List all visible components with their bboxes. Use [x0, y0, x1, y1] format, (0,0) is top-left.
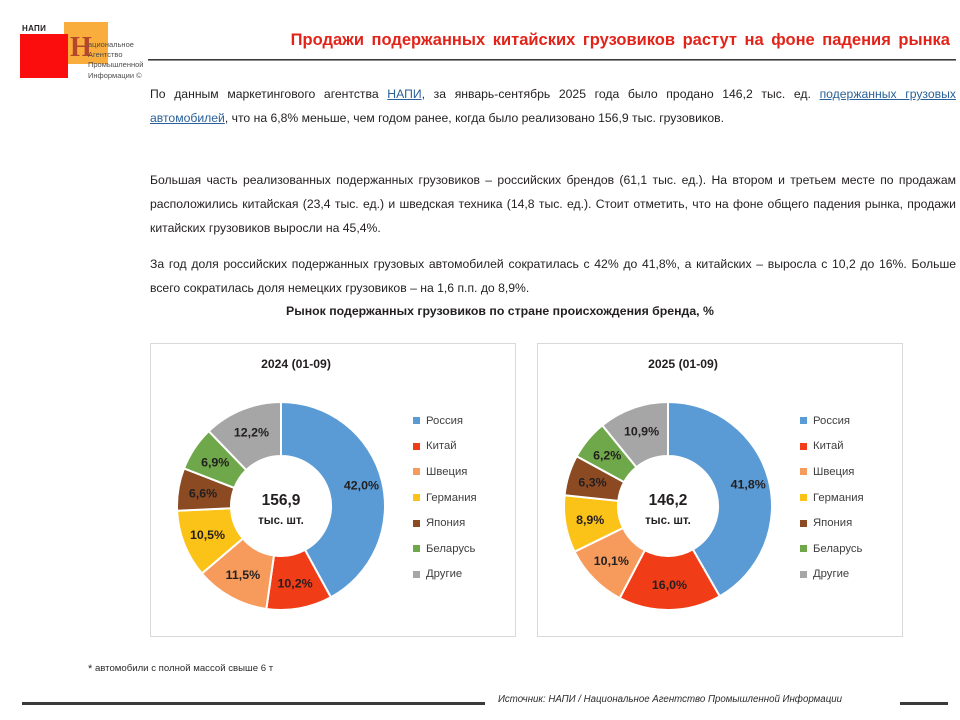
legend-label: Другие: [813, 568, 849, 580]
legend-label: Россия: [426, 415, 463, 427]
legend-swatch-icon: [800, 468, 807, 475]
chart-title-2025: 2025 (01-09): [538, 357, 902, 371]
legend-swatch-icon: [413, 417, 420, 424]
legend-swatch-icon: [800, 417, 807, 424]
legend-swatch-icon: [413, 468, 420, 475]
legend-label: Германия: [426, 492, 477, 504]
donut-chart-2024: 42,0%10,2%11,5%10,5%6,6%6,9%12,2%156,9ты…: [159, 382, 411, 630]
footer-rule-left: [22, 702, 485, 705]
legend-swatch-icon: [800, 520, 807, 527]
napi-logo: НАПИ Н ациональное Агентство Промышленно…: [14, 12, 154, 84]
legend-item[interactable]: Швеция: [800, 459, 892, 485]
chart-title-2024: 2024 (01-09): [151, 357, 515, 371]
legend-swatch-icon: [800, 494, 807, 501]
legend-label: Беларусь: [426, 543, 475, 555]
legend-item[interactable]: Другие: [413, 562, 505, 588]
slice-label: 6,3%: [578, 476, 606, 490]
legend-item[interactable]: Германия: [800, 485, 892, 511]
legend-swatch-icon: [413, 443, 420, 450]
legend-label: Германия: [813, 492, 864, 504]
legend-item[interactable]: Япония: [413, 510, 505, 536]
donut-center-value: 146,2: [649, 492, 688, 509]
logo-red-square: [20, 34, 68, 78]
donut-chart-2025: 41,8%16,0%10,1%8,9%6,3%6,2%10,9%146,2тыс…: [546, 382, 798, 630]
slice-label: 41,8%: [731, 478, 766, 492]
legend-item[interactable]: Россия: [800, 408, 892, 434]
chart-panel-2024: 2024 (01-09) 42,0%10,2%11,5%10,5%6,6%6,9…: [150, 343, 516, 637]
legend-swatch-icon: [413, 571, 420, 578]
donut-center-value: 156,9: [262, 492, 301, 509]
slice-label: 10,5%: [190, 528, 225, 542]
slice-label: 42,0%: [344, 478, 379, 492]
legend-label: Беларусь: [813, 543, 862, 555]
slice-label: 10,2%: [278, 577, 313, 591]
logo-line-4: Информации ©: [88, 71, 158, 81]
page-title: Продажи подержанных китайских грузовиков…: [150, 31, 950, 50]
footnote: * автомобили с полной массой свыше 6 т: [88, 663, 273, 675]
source-credit: Источник: НАПИ / Национальное Агентство …: [498, 694, 842, 705]
legend-item[interactable]: Китай: [800, 434, 892, 460]
title-divider: [148, 59, 956, 61]
legend-label: Китай: [813, 440, 844, 452]
slice-label: 8,9%: [576, 513, 604, 527]
legend-item[interactable]: Россия: [413, 408, 505, 434]
paragraph-2: Большая часть реализованных подержанных …: [150, 168, 956, 240]
legend-item[interactable]: Беларусь: [800, 536, 892, 562]
legend-label: Япония: [426, 517, 465, 529]
donut-svg-2024: 42,0%10,2%11,5%10,5%6,6%6,9%12,2%156,9ты…: [159, 382, 411, 630]
chart-panel-2025: 2025 (01-09) 41,8%16,0%10,1%8,9%6,3%6,2%…: [537, 343, 903, 637]
slice-label: 12,2%: [234, 426, 269, 440]
legend-item[interactable]: Швеция: [413, 459, 505, 485]
legend-2025: РоссияКитайШвецияГерманияЯпонияБеларусьД…: [800, 408, 892, 587]
legend-swatch-icon: [413, 545, 420, 552]
legend-label: Япония: [813, 517, 852, 529]
footnote-marker: *: [88, 663, 92, 675]
logo-line-3: Промышленной: [88, 60, 158, 70]
legend-label: Другие: [426, 568, 462, 580]
legend-label: Китай: [426, 440, 457, 452]
legend-swatch-icon: [800, 571, 807, 578]
legend-item[interactable]: Другие: [800, 562, 892, 588]
slice-label: 6,2%: [593, 449, 621, 463]
legend-swatch-icon: [413, 520, 420, 527]
legend-swatch-icon: [413, 494, 420, 501]
paragraph-3: За год доля российских подержанных грузо…: [150, 252, 956, 300]
slice-label: 10,9%: [624, 425, 659, 439]
legend-item[interactable]: Беларусь: [413, 536, 505, 562]
p1-text-a: По данным маркетингового агентства: [150, 87, 387, 101]
legend-label: Россия: [813, 415, 850, 427]
legend-swatch-icon: [800, 545, 807, 552]
slice-label: 11,5%: [226, 568, 260, 582]
p1-text-c: , что на 6,8% меньше, чем годом ранее, к…: [225, 111, 724, 125]
paragraph-1: По данным маркетингового агентства НАПИ,…: [150, 82, 956, 130]
slice-label: 6,6%: [189, 486, 217, 500]
slice-label: 16,0%: [652, 578, 687, 592]
footer-rule-right: [900, 702, 948, 705]
slice-label: 6,9%: [201, 455, 229, 469]
logo-line-1: ациональное: [88, 40, 158, 50]
donut-svg-2025: 41,8%16,0%10,1%8,9%6,3%6,2%10,9%146,2тыс…: [546, 382, 798, 630]
legend-label: Швеция: [426, 466, 467, 478]
legend-item[interactable]: Китай: [413, 434, 505, 460]
donut-center-unit: тыс. шт.: [258, 515, 304, 527]
slice-label: 10,1%: [594, 554, 629, 568]
charts-section-title: Рынок подержанных грузовиков по стране п…: [150, 304, 850, 318]
donut-center-unit: тыс. шт.: [645, 515, 691, 527]
legend-label: Швеция: [813, 466, 854, 478]
legend-swatch-icon: [800, 443, 807, 450]
legend-item[interactable]: Япония: [800, 510, 892, 536]
logo-abbr: НАПИ: [22, 24, 46, 33]
footnote-text: автомобили с полной массой свыше 6 т: [95, 663, 273, 674]
legend-2024: РоссияКитайШвецияГерманияЯпонияБеларусьД…: [413, 408, 505, 587]
link-napi[interactable]: НАПИ: [387, 87, 421, 101]
legend-item[interactable]: Германия: [413, 485, 505, 511]
p1-text-b: , за январь-сентябрь 2025 года было прод…: [422, 87, 820, 101]
